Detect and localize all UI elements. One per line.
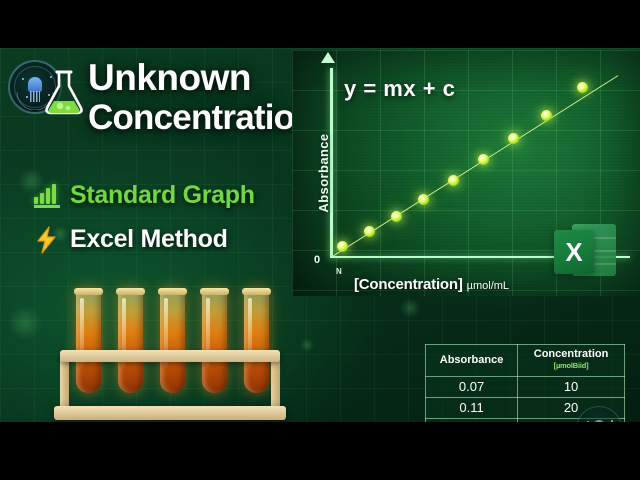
equation-label: y = mx + c [344, 76, 455, 102]
x-axis-label-main: [Concentration] [354, 276, 463, 293]
subtitle-standard-graph: Standard Graph [34, 181, 255, 210]
rack-upper-shelf [60, 350, 280, 362]
test-tube-rack [70, 288, 270, 422]
header-unit: [µmolBiid] [520, 360, 622, 372]
title-line-2: Concentration [88, 98, 323, 138]
table-head: Absorbance Concentration [µmolBiid] [426, 345, 625, 377]
cell-absorbance: 0.07 [426, 377, 518, 398]
cell-absorbance: 0.16 [426, 419, 518, 423]
column-header-absorbance: Absorbance [426, 345, 518, 377]
lightning-bolt-icon [34, 226, 60, 254]
data-point [337, 241, 348, 252]
header-label: Absorbance [440, 354, 504, 366]
x-axis-label: [Concentration] µmol/mL [354, 276, 509, 293]
excel-icon-front-panel: X [554, 230, 594, 274]
content-band: Unknown Concentration Standard Graph Exc… [0, 48, 640, 422]
origin-label: 0 [314, 254, 320, 266]
y-axis-arrow-icon [321, 52, 335, 63]
bokeh-particle [8, 306, 42, 340]
cell-concentration: 10 [518, 377, 625, 398]
bokeh-particle [300, 338, 314, 352]
data-point [577, 82, 588, 93]
n-tick-label: N [336, 267, 342, 276]
standard-graph-panel: y = mx + c Absorbance 0 N [Concentration… [292, 50, 640, 296]
x-axis-label-unit: µmol/mL [467, 280, 509, 292]
subtitle-label: Standard Graph [70, 181, 255, 210]
screenshot-stage: Unknown Concentration Standard Graph Exc… [0, 0, 640, 480]
column-header-concentration: Concentration [µmolBiid] [518, 345, 625, 377]
table-row: 0.0710 [426, 377, 625, 398]
data-point [418, 194, 429, 205]
table-header-row: Absorbance Concentration [µmolBiid] [426, 345, 625, 377]
data-point [448, 175, 459, 186]
bar-chart-icon [34, 184, 60, 208]
page-title: Unknown Concentration [88, 58, 323, 138]
data-point [364, 226, 375, 237]
data-point [541, 110, 552, 121]
subtitle-excel-method: Excel Method [34, 225, 228, 254]
bokeh-particle [400, 298, 420, 318]
subtitle-label: Excel Method [70, 225, 228, 254]
y-axis-label: Absorbance [316, 133, 331, 212]
title-line-1: Unknown [88, 58, 323, 98]
header-label: Concentration [534, 348, 609, 360]
data-point [391, 211, 402, 222]
cell-absorbance: 0.11 [426, 398, 518, 419]
data-point [478, 154, 489, 165]
rack-base-shelf [54, 406, 286, 420]
excel-file-icon: X [554, 222, 616, 278]
data-point [508, 133, 519, 144]
excel-icon-letter: X [565, 239, 582, 265]
flask-icon [42, 68, 86, 116]
